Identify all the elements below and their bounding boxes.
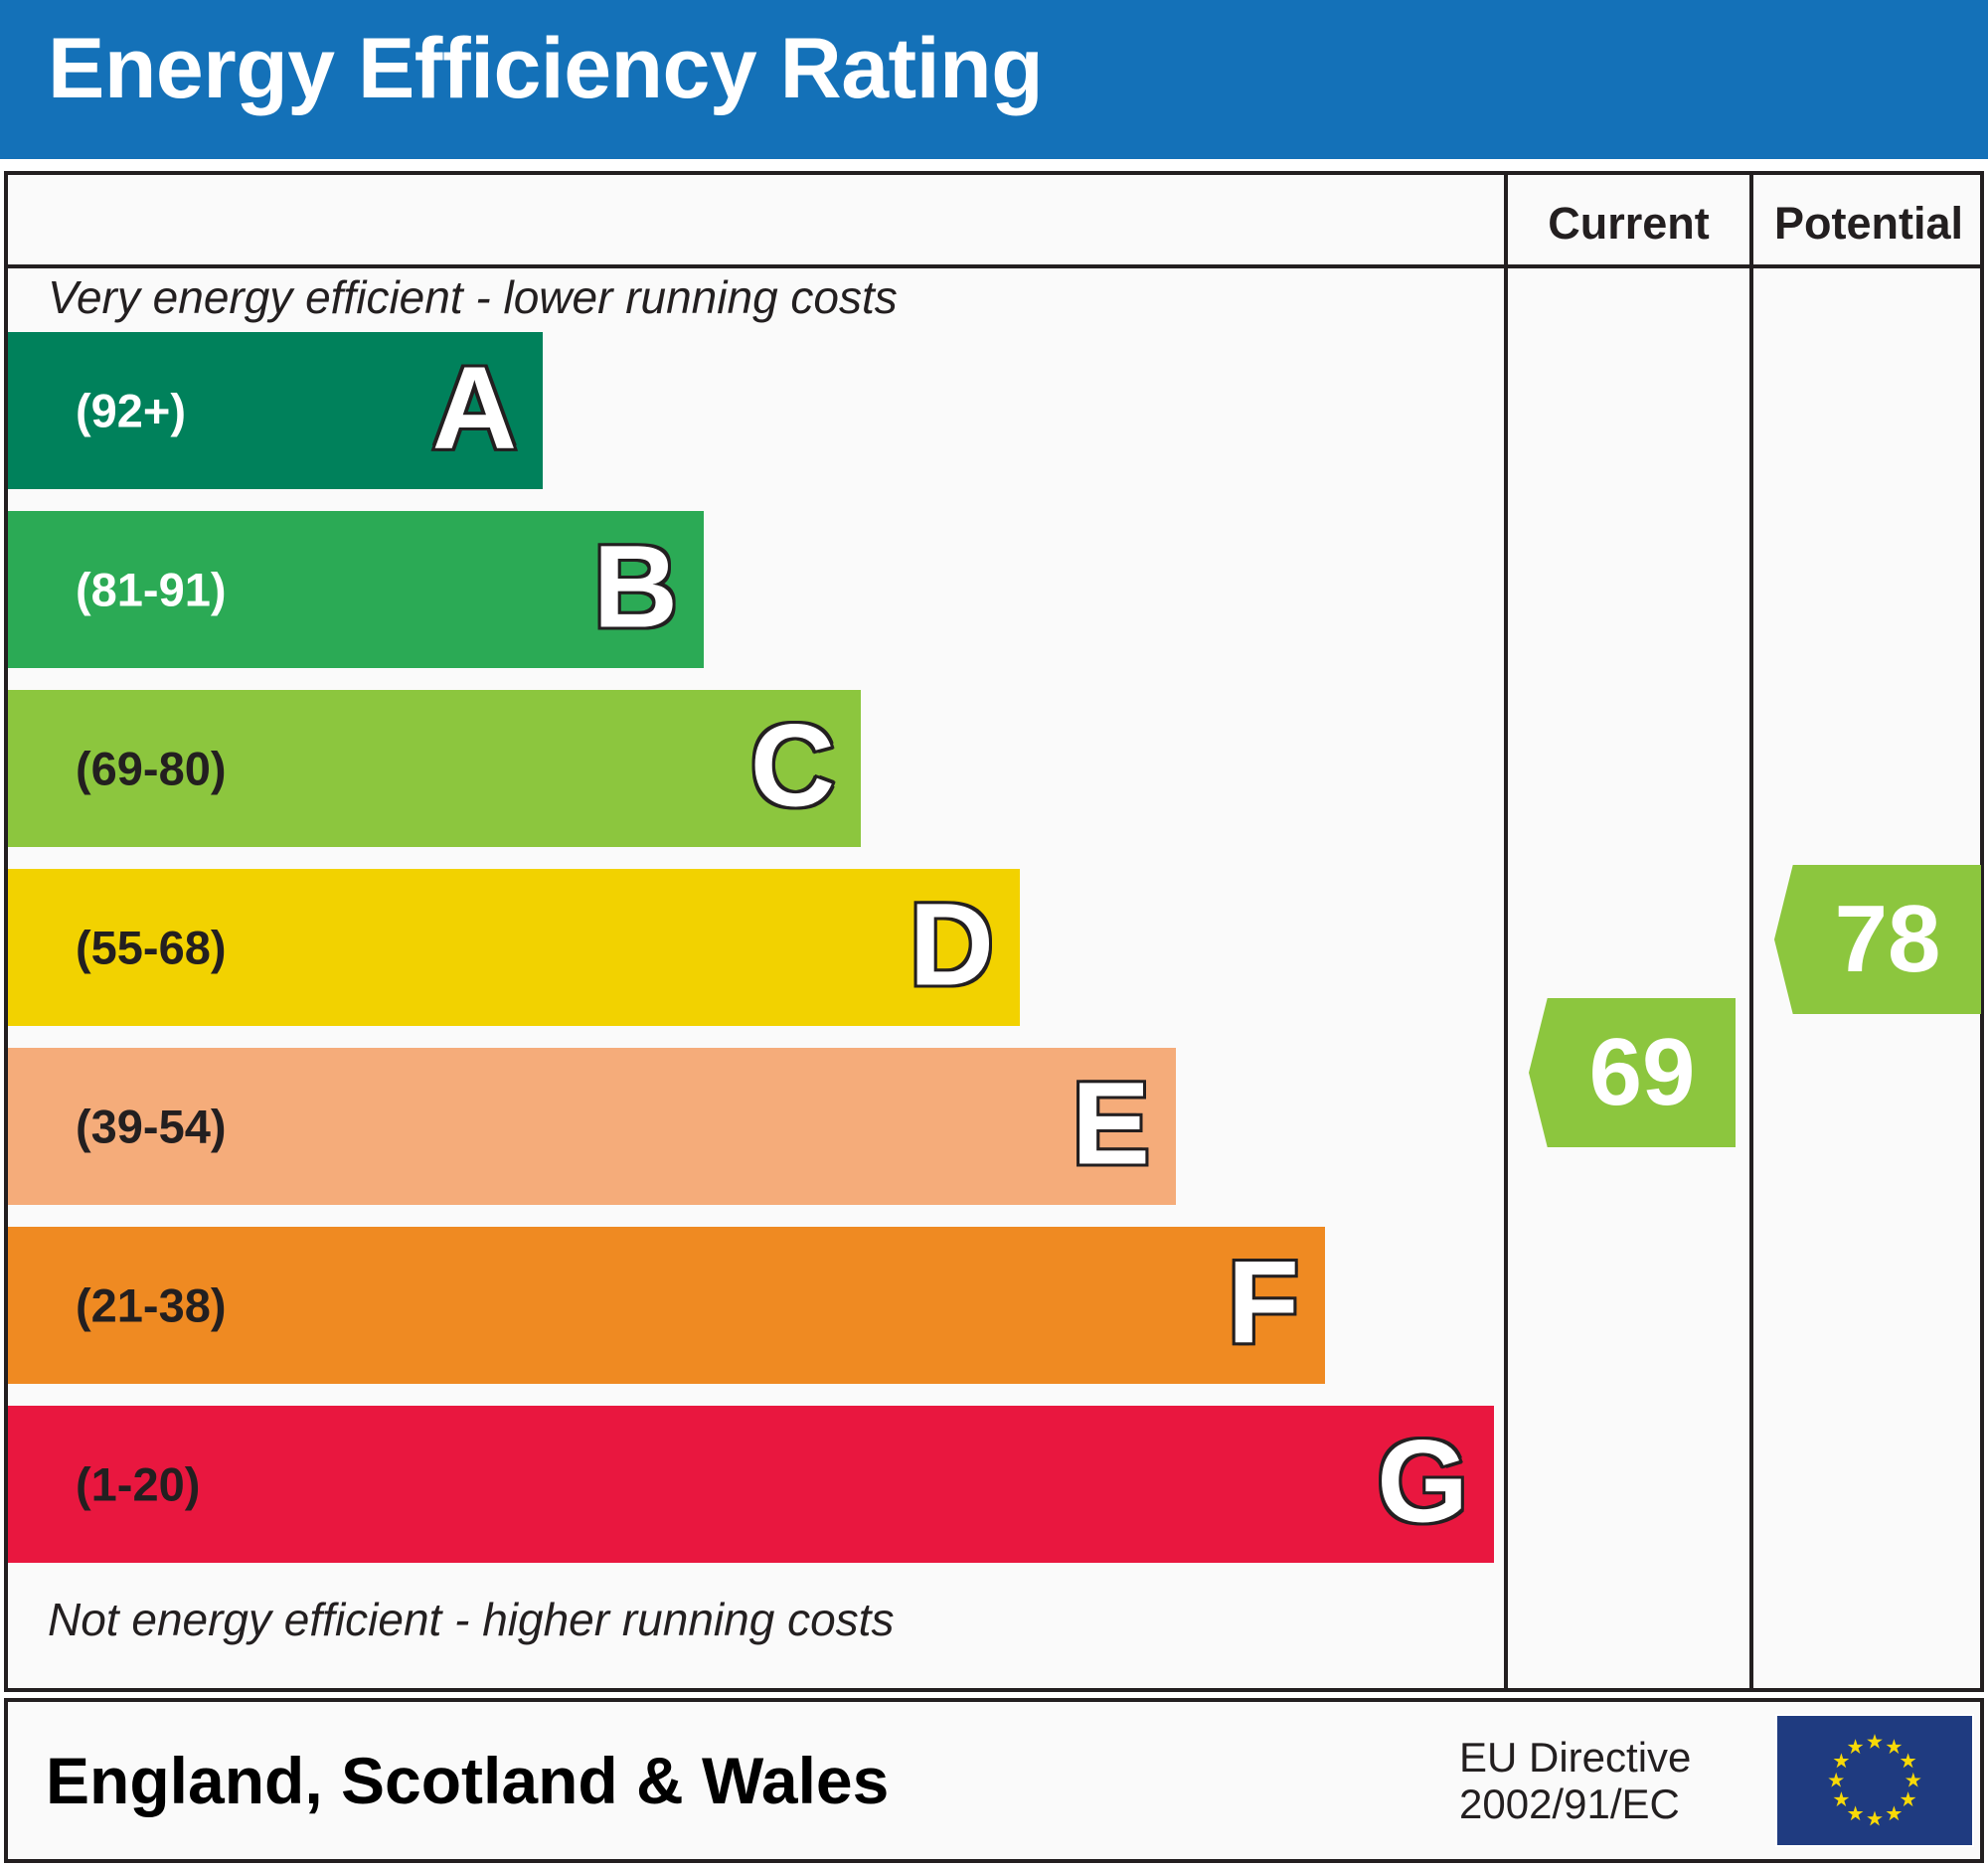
column-header-potential: Potential — [1753, 189, 1984, 258]
potential-rating-value: 78 — [1815, 892, 1941, 987]
eu-flag-icon — [1775, 1714, 1974, 1847]
band-f-letter: F — [1228, 1245, 1299, 1362]
band-b-letter: B — [593, 529, 678, 646]
band-a: (92+) A — [8, 332, 543, 489]
band-e: (39-54) E — [8, 1048, 1176, 1205]
potential-rating-arrow: 78 — [1774, 865, 1981, 1014]
caption-not-efficient: Not energy efficient - higher running co… — [48, 1597, 894, 1642]
eu-flag-stars — [1777, 1716, 1972, 1845]
band-f: (21-38) F — [8, 1227, 1325, 1384]
region-label: England, Scotland & Wales — [46, 1748, 889, 1813]
column-divider-potential — [1749, 175, 1753, 1688]
header-divider-right — [1504, 264, 1984, 268]
chart-body: Current Potential Very energy efficient … — [4, 171, 1984, 1692]
band-g-letter: G — [1377, 1424, 1468, 1541]
band-d-range: (55-68) — [76, 925, 227, 971]
eu-directive-line2: 2002/91/EC — [1459, 1781, 1691, 1827]
band-b-range: (81-91) — [76, 567, 227, 613]
band-c-range: (69-80) — [76, 746, 227, 792]
band-a-range: (92+) — [76, 388, 186, 434]
band-e-letter: E — [1072, 1066, 1150, 1183]
current-rating-arrow: 69 — [1529, 998, 1736, 1147]
band-a-letter: A — [432, 350, 517, 467]
chart-footer: England, Scotland & Wales EU Directive 2… — [4, 1698, 1984, 1863]
band-c-letter: C — [750, 708, 835, 825]
band-f-range: (21-38) — [76, 1282, 227, 1329]
band-g-range: (1-20) — [76, 1461, 200, 1508]
page-title: Energy Efficiency Rating — [48, 26, 1043, 111]
band-d-letter: D — [910, 887, 994, 1004]
energy-efficiency-rating-chart: Energy Efficiency Rating Current Potenti… — [0, 0, 1988, 1867]
header-divider-left — [8, 264, 1504, 268]
band-e-range: (39-54) — [76, 1103, 227, 1150]
current-rating-value: 69 — [1570, 1025, 1696, 1120]
band-g: (1-20) G — [8, 1406, 1494, 1563]
band-d: (55-68) D — [8, 869, 1020, 1026]
rating-bands: (92+) A (81-91) B (69-80) C (55-68) D (3… — [8, 332, 1504, 1585]
eu-directive-line1: EU Directive — [1459, 1734, 1691, 1781]
band-c: (69-80) C — [8, 690, 861, 847]
chart-header-banner: Energy Efficiency Rating — [0, 0, 1988, 159]
caption-efficient: Very energy efficient - lower running co… — [48, 274, 898, 320]
column-divider-current — [1504, 175, 1508, 1688]
band-b: (81-91) B — [8, 511, 704, 668]
column-header-current: Current — [1508, 189, 1749, 258]
eu-directive-text: EU Directive 2002/91/EC — [1459, 1734, 1691, 1827]
